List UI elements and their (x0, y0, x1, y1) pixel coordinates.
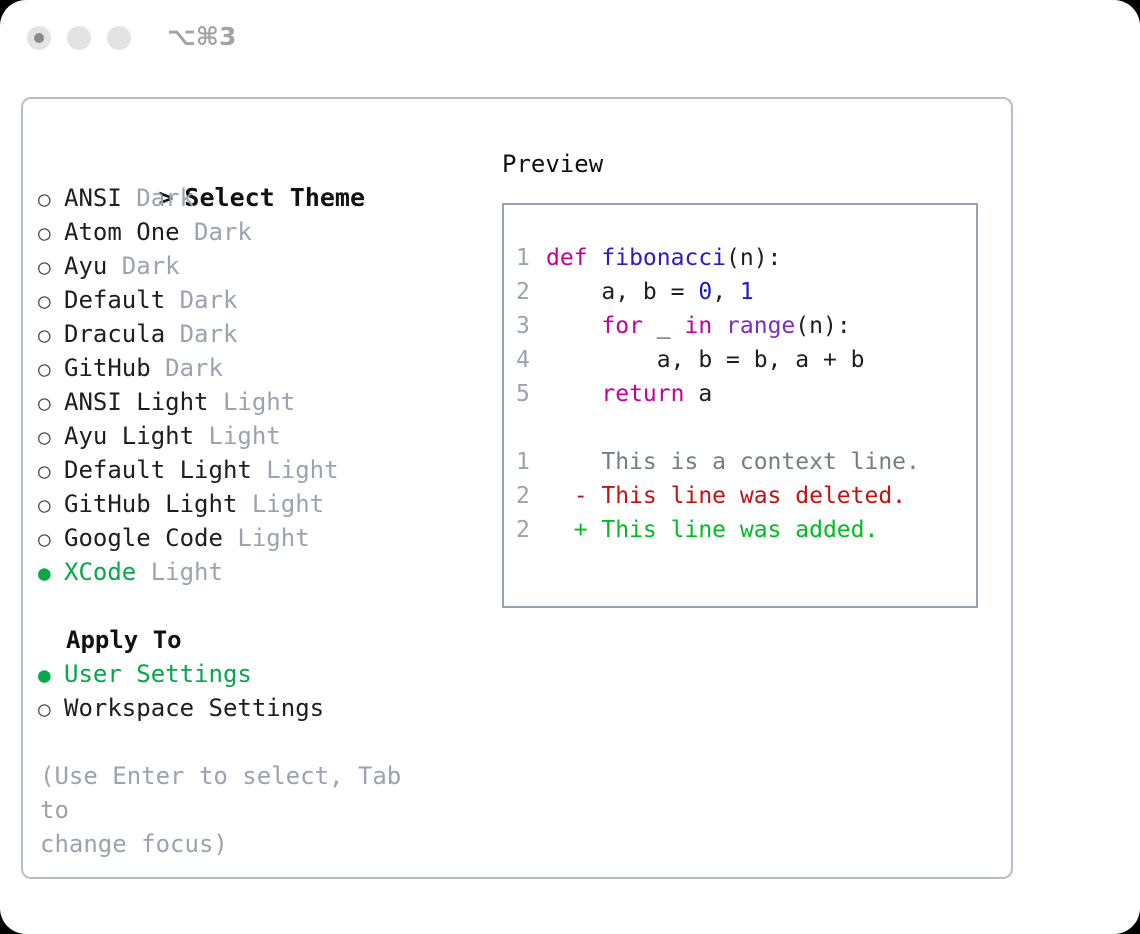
apply-to-heading: Apply To (38, 623, 468, 657)
radio-unselected-icon: ○ (38, 250, 64, 284)
theme-list-item[interactable]: ○GitHub Dark (38, 351, 468, 385)
select-theme-heading-label: Select Theme (184, 183, 365, 212)
traffic-light-active-dot-icon (34, 33, 44, 43)
code-token (546, 381, 601, 407)
theme-name: Ayu Light (64, 422, 209, 450)
code-token: (n): (726, 245, 781, 271)
code-token: a, b = (546, 279, 698, 305)
radio-selected-icon: ● (38, 556, 64, 590)
radio-unselected-icon: ○ (38, 454, 64, 488)
theme-name: Atom One (64, 218, 194, 246)
app-window: ⌥⌘3 >Select Theme ○ANSI Dark○Atom One Da… (0, 0, 1140, 934)
theme-name: Default Light (64, 456, 266, 484)
code-line: 5 return a (516, 377, 976, 411)
apply-to-item[interactable]: ●User Settings (38, 657, 468, 691)
theme-name: ANSI (64, 184, 136, 212)
code-token (546, 313, 601, 339)
preview-box: 1def fibonacci(n):2 a, b = 0, 13 for _ i… (502, 203, 978, 608)
theme-variant-tag: Dark (194, 218, 252, 246)
apply-to-label: User Settings (64, 660, 252, 688)
theme-name: Default (64, 286, 180, 314)
line-number: 2 (516, 479, 546, 513)
code-token: a, b = b, a + b (546, 347, 865, 373)
line-number: 1 (516, 241, 546, 275)
theme-variant-tag: Dark (165, 354, 223, 382)
traffic-light-inactive-1[interactable] (67, 26, 91, 50)
code-line: 1def fibonacci(n): (516, 241, 976, 275)
theme-list-item[interactable]: ○GitHub Light Light (38, 487, 468, 521)
traffic-light-inactive-2[interactable] (107, 26, 131, 50)
theme-variant-tag: Light (237, 524, 309, 552)
radio-unselected-icon: ○ (38, 420, 64, 454)
radio-selected-icon: ● (38, 658, 64, 692)
diff-line: 2 - This line was deleted. (516, 479, 976, 513)
theme-list: ○ANSI Dark○Atom One Dark○Ayu Dark○Defaul… (38, 181, 468, 589)
theme-list-item[interactable]: ○Google Code Light (38, 521, 468, 555)
theme-name: Google Code (64, 524, 237, 552)
diff-line: 2 + This line was added. (516, 513, 976, 547)
theme-variant-tag: Light (266, 456, 338, 484)
radio-unselected-icon: ○ (38, 182, 64, 216)
theme-list-item[interactable]: ○Default Dark (38, 283, 468, 317)
diff-marker (546, 449, 601, 475)
line-number: 1 (516, 445, 546, 479)
code-line: 4 a, b = b, a + b (516, 343, 976, 377)
code-token: _ (643, 313, 685, 339)
radio-unselected-icon: ○ (38, 488, 64, 522)
code-token: a (684, 381, 712, 407)
code-diff-separator (516, 411, 976, 445)
theme-variant-tag: Light (223, 388, 295, 416)
theme-name: Dracula (64, 320, 180, 348)
code-line: 2 a, b = 0, 1 (516, 275, 976, 309)
theme-name: Ayu (64, 252, 122, 280)
theme-name: GitHub Light (64, 490, 252, 518)
radio-unselected-icon: ○ (38, 386, 64, 420)
diff-marker: - (546, 483, 601, 509)
theme-variant-tag: Dark (180, 320, 238, 348)
theme-list-item[interactable]: ○ANSI Light Light (38, 385, 468, 419)
radio-unselected-icon: ○ (38, 522, 64, 556)
line-number: 2 (516, 275, 546, 309)
diff-marker: + (546, 517, 601, 543)
preview-title: Preview (502, 147, 1002, 181)
title-bar: ⌥⌘3 (0, 0, 1140, 78)
code-token: 0 (698, 279, 712, 305)
preview-column: Preview 1def fibonacci(n):2 a, b = 0, 13… (502, 147, 1002, 181)
theme-list-item[interactable]: ○Default Light Light (38, 453, 468, 487)
apply-to-label: Workspace Settings (64, 694, 324, 722)
code-token: range (726, 313, 795, 339)
code-token: for (601, 313, 643, 339)
diff-text: This is a context line. (601, 449, 920, 475)
theme-variant-tag: Dark (180, 286, 238, 314)
code-token (712, 313, 726, 339)
apply-to-item[interactable]: ○Workspace Settings (38, 691, 468, 725)
code-sample: 1def fibonacci(n):2 a, b = 0, 13 for _ i… (516, 241, 976, 411)
diff-text: This line was deleted. (601, 483, 906, 509)
theme-name: GitHub (64, 354, 165, 382)
radio-unselected-icon: ○ (38, 318, 64, 352)
code-token: def (546, 245, 601, 271)
radio-unselected-icon: ○ (38, 216, 64, 250)
theme-selection-column: >Select Theme ○ANSI Dark○Atom One Dark○A… (38, 147, 468, 861)
code-token: , (712, 279, 740, 305)
diff-line: 1 This is a context line. (516, 445, 976, 479)
theme-list-item[interactable]: ○Dracula Dark (38, 317, 468, 351)
theme-variant-tag: Light (209, 422, 281, 450)
code-token: return (601, 381, 684, 407)
preview-code-area: 1def fibonacci(n):2 a, b = 0, 13 for _ i… (504, 205, 976, 547)
keyboard-shortcut-label: ⌥⌘3 (167, 22, 236, 51)
apply-to-list: ●User Settings○Workspace Settings (38, 657, 468, 725)
traffic-light-active[interactable] (27, 26, 51, 50)
diff-text: This line was added. (601, 517, 878, 543)
theme-variant-tag: Dark (122, 252, 180, 280)
theme-list-item[interactable]: ○Ayu Dark (38, 249, 468, 283)
theme-name: XCode (64, 558, 151, 586)
section-spacer (38, 589, 468, 623)
code-token: 1 (740, 279, 754, 305)
radio-unselected-icon: ○ (38, 692, 64, 726)
radio-unselected-icon: ○ (38, 352, 64, 386)
code-token: in (684, 313, 712, 339)
theme-variant-tag: Light (151, 558, 223, 586)
theme-variant-tag: Light (252, 490, 324, 518)
theme-name: ANSI Light (64, 388, 223, 416)
theme-variant-tag: Dark (136, 184, 194, 212)
line-number: 2 (516, 513, 546, 547)
radio-unselected-icon: ○ (38, 284, 64, 318)
theme-list-item[interactable]: ●XCode Light (38, 555, 468, 589)
diff-sample: 1 This is a context line.2 - This line w… (516, 445, 976, 547)
code-token: fibonacci (601, 245, 726, 271)
line-number: 3 (516, 309, 546, 343)
keyboard-hint-text: (Use Enter to select, Tab to change focu… (38, 759, 440, 861)
theme-list-item[interactable]: ○Ayu Light Light (38, 419, 468, 453)
line-number: 4 (516, 343, 546, 377)
line-number: 5 (516, 377, 546, 411)
code-token: (n): (795, 313, 850, 339)
theme-list-item[interactable]: ○Atom One Dark (38, 215, 468, 249)
select-theme-heading: >Select Theme (38, 147, 468, 181)
code-line: 3 for _ in range(n): (516, 309, 976, 343)
main-panel: >Select Theme ○ANSI Dark○Atom One Dark○A… (21, 97, 1013, 879)
